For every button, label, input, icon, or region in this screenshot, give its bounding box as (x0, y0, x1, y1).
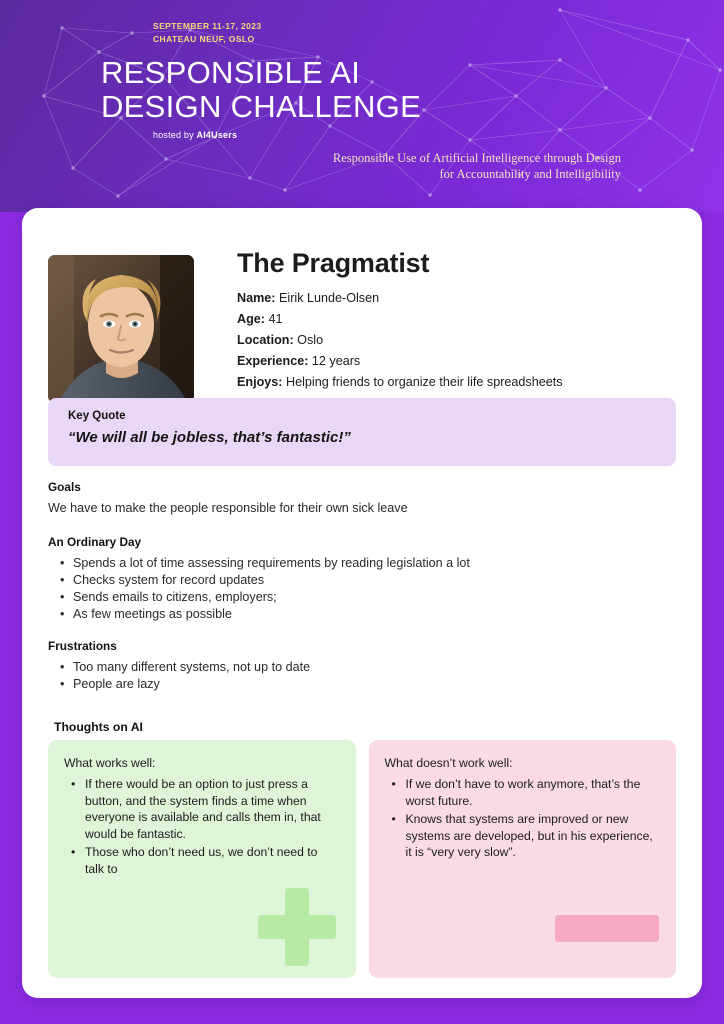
works-well-box: What works well: If there would be an op… (48, 740, 356, 978)
doesnt-work-well-box: What doesn’t work well: If we don’t have… (369, 740, 677, 978)
key-quote-label: Key Quote (68, 410, 656, 422)
works-well-label: What works well: (64, 756, 340, 770)
event-tagline-line2: for Accountability and Intelligibility (301, 166, 621, 182)
event-title: RESPONSIBLE AI DESIGN CHALLENGE (101, 56, 421, 124)
list-item: If we don’t have to work anymore, that’s… (385, 776, 661, 809)
persona-field-enjoys: Enjoys: Helping friends to organize thei… (237, 372, 677, 393)
persona-field-name-value: Eirik Lunde-Olsen (279, 291, 379, 305)
list-item: As few meetings as possible (48, 606, 676, 623)
spacer (48, 623, 676, 639)
page-title: The Pragmatist (237, 248, 677, 279)
persona-card: The Pragmatist Name: Eirik Lunde-Olsen A… (22, 208, 702, 998)
event-title-line1: RESPONSIBLE AI (101, 56, 421, 90)
list-item: Knows that systems are improved or new s… (385, 811, 661, 861)
list-item: Those who don’t need us, we don’t need t… (64, 844, 340, 877)
persona-field-age-label: Age: (237, 312, 265, 326)
persona-field-experience-label: Experience: (237, 354, 308, 368)
avatar (48, 255, 194, 403)
list-item: Too many different systems, not up to da… (48, 659, 676, 676)
key-quote-text: “We will all be jobless, that’s fantasti… (68, 429, 656, 446)
spacer (48, 517, 676, 535)
goals-text: We have to make the people responsible f… (48, 500, 676, 517)
event-date: SEPTEMBER 11-17, 2023 (153, 20, 262, 33)
persona-field-age-value: 41 (269, 312, 283, 326)
key-quote-box: Key Quote “We will all be jobless, that’… (48, 398, 676, 466)
event-banner: SEPTEMBER 11-17, 2023 CHATEAU NEUF, OSLO… (0, 0, 724, 212)
goals-heading: Goals (48, 480, 676, 494)
event-tagline: Responsible Use of Artificial Intelligen… (301, 150, 621, 182)
persona-field-name-label: Name: (237, 291, 276, 305)
plus-icon (258, 888, 336, 966)
thoughts-on-ai-boxes: What works well: If there would be an op… (48, 740, 676, 978)
section-frustrations: Frustrations Too many different systems,… (48, 639, 676, 693)
list-item: Sends emails to citizens, employers; (48, 589, 676, 606)
persona-field-name: Name: Eirik Lunde-Olsen (237, 288, 677, 309)
persona-sections: Goals We have to make the people respons… (48, 480, 676, 693)
event-tagline-line1: Responsible Use of Artificial Intelligen… (301, 150, 621, 166)
section-ordinary-day: An Ordinary Day Spends a lot of time ass… (48, 535, 676, 623)
event-meta: SEPTEMBER 11-17, 2023 CHATEAU NEUF, OSLO (153, 20, 262, 46)
list-item: Spends a lot of time assessing requireme… (48, 555, 676, 572)
persona-field-experience: Experience: 12 years (237, 351, 677, 372)
frustrations-list: Too many different systems, not up to da… (48, 659, 676, 693)
frustrations-heading: Frustrations (48, 639, 676, 653)
persona-field-age: Age: 41 (237, 309, 677, 330)
doesnt-work-well-list: If we don’t have to work anymore, that’s… (385, 776, 661, 861)
persona-field-experience-value: 12 years (312, 354, 360, 368)
thoughts-on-ai-heading: Thoughts on AI (54, 720, 143, 734)
ordinary-day-list: Spends a lot of time assessing requireme… (48, 555, 676, 623)
doesnt-work-well-label: What doesn’t work well: (385, 756, 661, 770)
persona-field-enjoys-value: Helping friends to organize their life s… (286, 375, 563, 389)
avatar-portrait-image (48, 255, 194, 403)
list-item: If there would be an option to just pres… (64, 776, 340, 842)
minus-icon (555, 915, 659, 942)
event-host: hosted by AI4Users (153, 130, 237, 140)
persona-field-enjoys-label: Enjoys: (237, 375, 283, 389)
persona-field-location: Location: Oslo (237, 330, 677, 351)
event-venue: CHATEAU NEUF, OSLO (153, 33, 262, 46)
section-goals: Goals We have to make the people respons… (48, 480, 676, 517)
event-host-prefix: hosted by (153, 130, 197, 140)
event-title-line2: DESIGN CHALLENGE (101, 90, 421, 124)
persona-info: The Pragmatist Name: Eirik Lunde-Olsen A… (237, 248, 677, 393)
works-well-list: If there would be an option to just pres… (64, 776, 340, 877)
persona-field-location-value: Oslo (297, 333, 323, 347)
persona-header: The Pragmatist Name: Eirik Lunde-Olsen A… (48, 230, 676, 388)
persona-field-location-label: Location: (237, 333, 294, 347)
list-item: People are lazy (48, 676, 676, 693)
ordinary-day-heading: An Ordinary Day (48, 535, 676, 549)
list-item: Checks system for record updates (48, 572, 676, 589)
event-host-org: AI4Users (197, 130, 238, 140)
